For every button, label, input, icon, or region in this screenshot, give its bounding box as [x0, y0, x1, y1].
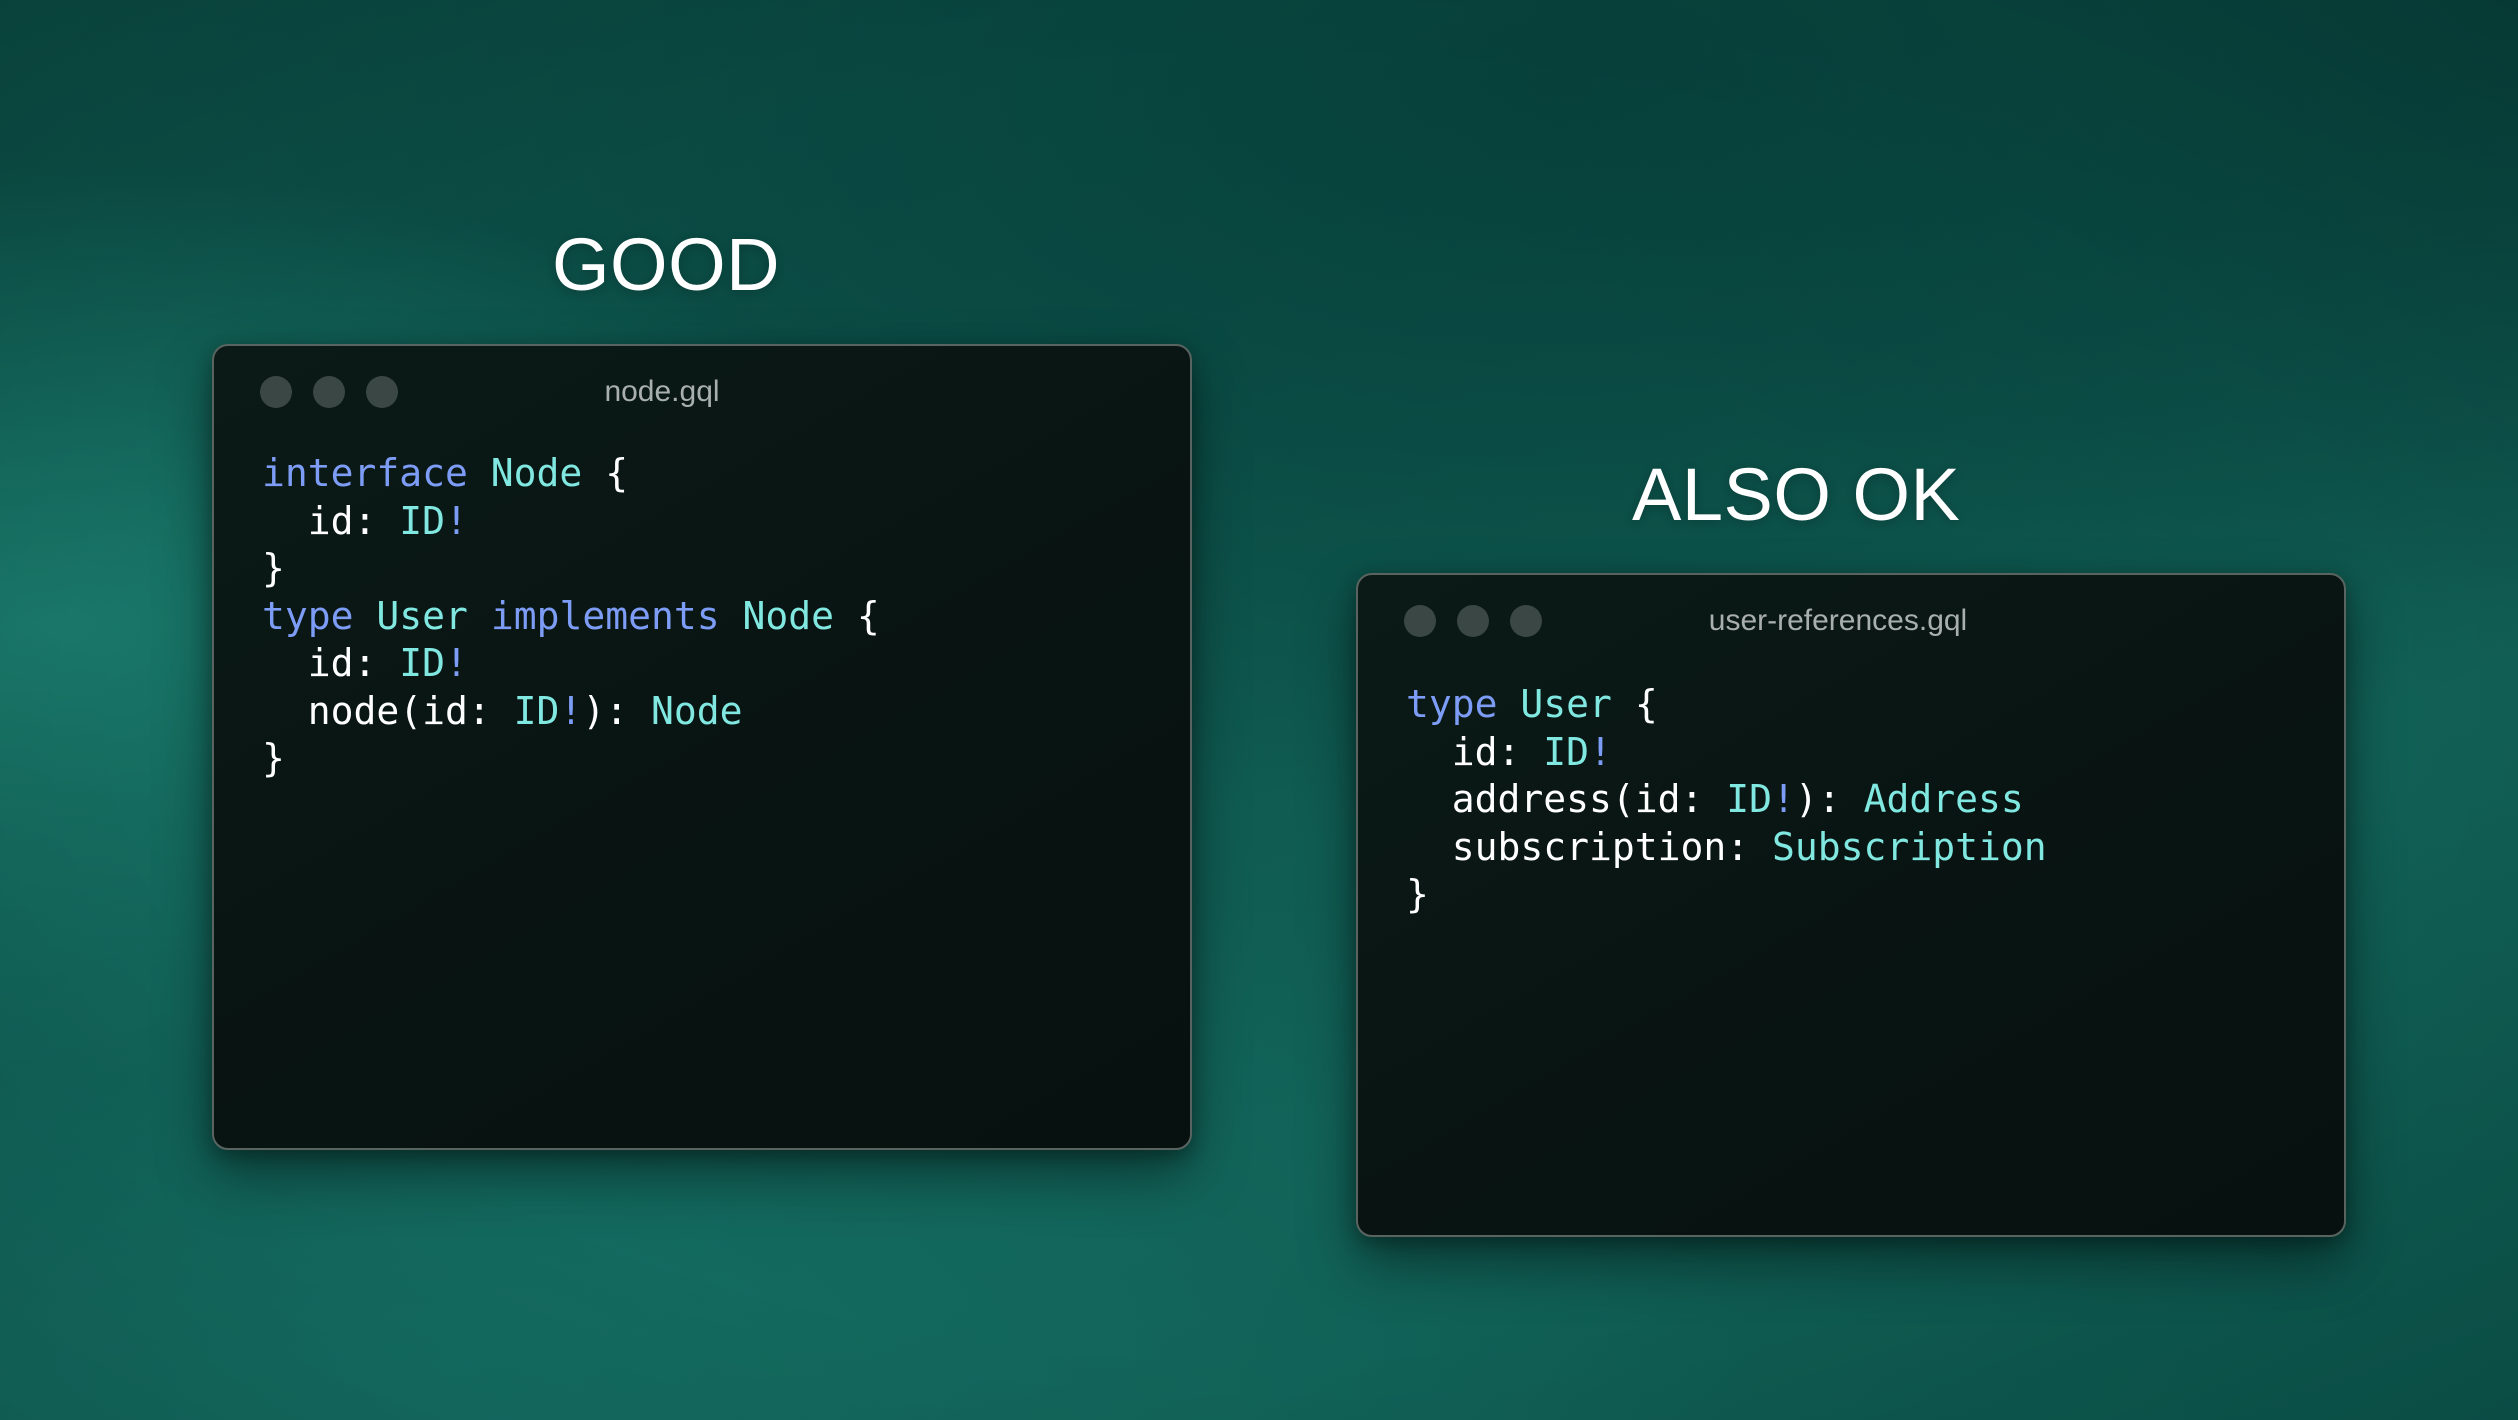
panel-heading-also-ok: ALSO OK	[1632, 452, 1960, 537]
code-token-type: User	[376, 594, 468, 638]
code-token-type: Node	[491, 451, 583, 495]
code-line: id: ID!	[262, 498, 1190, 546]
code-line: type User implements Node {	[262, 593, 1190, 641]
code-token-type: User	[1520, 682, 1612, 726]
code-line: id: ID!	[262, 640, 1190, 688]
code-token-pun	[1498, 682, 1521, 726]
window-dot-close-icon[interactable]	[260, 376, 292, 408]
code-line: }	[262, 735, 1190, 783]
code-token-pun	[468, 451, 491, 495]
code-token-bang: !	[559, 689, 582, 733]
code-line: type User {	[1406, 681, 2344, 729]
code-token-pun	[834, 594, 857, 638]
code-token-bang: !	[445, 641, 468, 685]
code-token-bang: !	[1589, 730, 1612, 774]
code-line: interface Node {	[262, 450, 1190, 498]
code-token-pun	[720, 594, 743, 638]
traffic-lights	[1404, 605, 1542, 637]
code-token-pun: subscription:	[1406, 825, 1772, 869]
code-token-type: ID	[399, 641, 445, 685]
code-token-type: ID	[514, 689, 560, 733]
code-token-pun: }	[262, 736, 285, 780]
window-dot-zoom-icon[interactable]	[1510, 605, 1542, 637]
code-token-pun: ):	[582, 689, 651, 733]
code-token-pun	[468, 594, 491, 638]
code-line: id: ID!	[1406, 729, 2344, 777]
code-line: address(id: ID!): Address	[1406, 776, 2344, 824]
window-dot-close-icon[interactable]	[1404, 605, 1436, 637]
code-token-pun: {	[1635, 682, 1658, 726]
code-token-type: ID	[1543, 730, 1589, 774]
code-token-pun: id:	[1406, 730, 1543, 774]
code-line: node(id: ID!): Node	[262, 688, 1190, 736]
code-token-pun	[354, 594, 377, 638]
code-block-user-references: type User { id: ID! address(id: ID!): Ad…	[1358, 667, 2344, 919]
code-token-type: Node	[742, 594, 834, 638]
code-token-pun	[1612, 682, 1635, 726]
window-dot-minimize-icon[interactable]	[1457, 605, 1489, 637]
window-titlebar: node.gql	[214, 346, 1190, 438]
code-token-kw: type	[1406, 682, 1498, 726]
window-dot-minimize-icon[interactable]	[313, 376, 345, 408]
window-titlebar: user-references.gql	[1358, 575, 2344, 667]
panel-heading-good: GOOD	[552, 222, 780, 307]
code-token-pun: }	[1406, 872, 1429, 916]
code-line: subscription: Subscription	[1406, 824, 2344, 872]
code-token-pun: {	[605, 451, 628, 495]
code-line: }	[1406, 871, 2344, 919]
code-token-pun: }	[262, 546, 285, 590]
code-token-pun: node(id:	[262, 689, 514, 733]
code-token-type: ID	[1726, 777, 1772, 821]
code-token-bang: !	[1772, 777, 1795, 821]
code-token-pun: ):	[1795, 777, 1864, 821]
code-token-type: Node	[651, 689, 743, 733]
code-token-pun	[582, 451, 605, 495]
code-token-pun: {	[857, 594, 880, 638]
code-token-kw: implements	[491, 594, 720, 638]
code-token-type: Address	[1864, 777, 2024, 821]
code-line: }	[262, 545, 1190, 593]
code-token-kw: type	[262, 594, 354, 638]
window-dot-zoom-icon[interactable]	[366, 376, 398, 408]
code-token-pun: address(id:	[1406, 777, 1726, 821]
code-token-type: ID	[399, 499, 445, 543]
code-token-kw: interface	[262, 451, 468, 495]
code-window-user-references: user-references.gql type User { id: ID! …	[1356, 573, 2346, 1237]
code-block-node: interface Node { id: ID!}type User imple…	[214, 438, 1190, 783]
code-token-type: Subscription	[1772, 825, 2047, 869]
code-window-node: node.gql interface Node { id: ID!}type U…	[212, 344, 1192, 1150]
traffic-lights	[260, 376, 398, 408]
code-token-pun: id:	[262, 641, 399, 685]
code-token-pun: id:	[262, 499, 399, 543]
code-token-bang: !	[445, 499, 468, 543]
